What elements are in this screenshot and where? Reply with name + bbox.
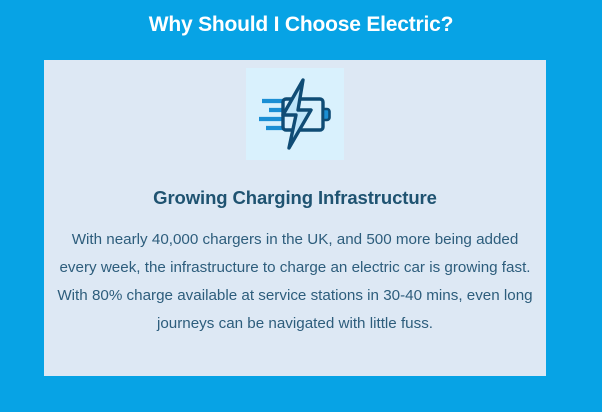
fast-charging-battery-icon — [256, 77, 334, 151]
page-root: Why Should I Choose Electric? — [0, 0, 602, 412]
feature-card: Growing Charging Infrastructure With nea… — [44, 60, 546, 376]
card-body-text: With nearly 40,000 chargers in the UK, a… — [55, 226, 535, 338]
card-heading: Growing Charging Infrastructure — [153, 187, 437, 209]
icon-tile — [246, 68, 344, 160]
page-title: Why Should I Choose Electric? — [0, 13, 602, 37]
